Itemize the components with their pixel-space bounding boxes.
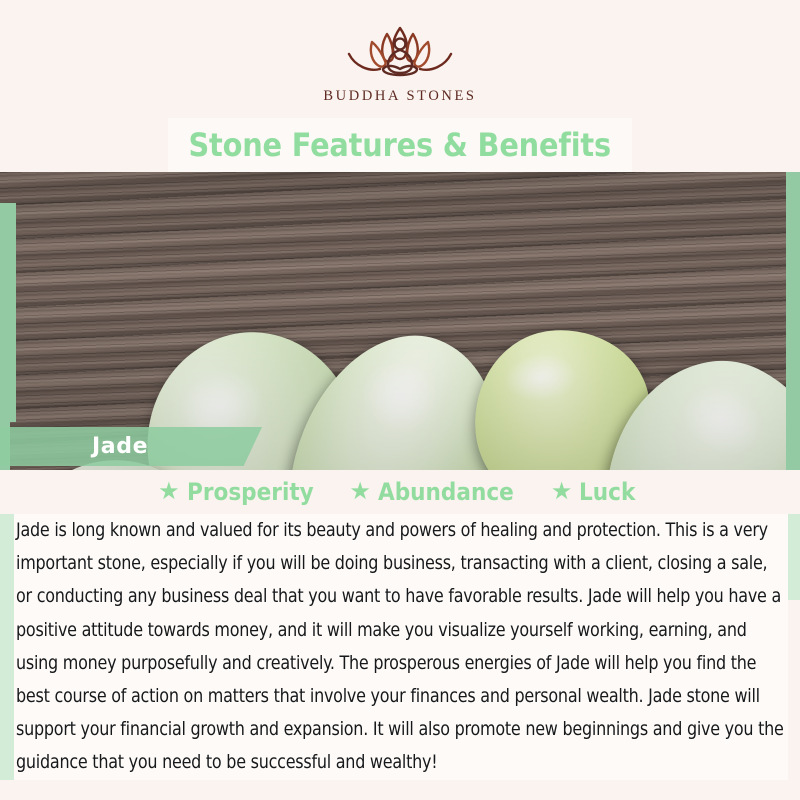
description-block: Jade is long known and valued for its be… [14, 514, 788, 780]
brand-name: BUDDHA STONES [323, 88, 476, 105]
jade-stones-photo [0, 172, 800, 470]
infographic-page: BUDDHA STONES Stone Features & Benefits … [0, 0, 800, 800]
keyword-row: ★ Prosperity ★ Abundance ★ Luck [0, 470, 800, 514]
star-icon: ★ [349, 480, 371, 504]
stone-name-label: Jade [92, 436, 148, 458]
keyword-item-prosperity: ★ Prosperity [158, 480, 327, 504]
keyword-label: Prosperity [187, 480, 314, 504]
bottom-spacer [0, 780, 800, 800]
lotus-meditation-icon [325, 22, 475, 84]
keyword-item-luck: ★ Luck [551, 480, 642, 504]
keyword-label: Luck [579, 480, 635, 504]
page-title: Stone Features & Benefits [189, 129, 611, 161]
star-icon: ★ [551, 480, 573, 504]
decorative-bar-left [0, 203, 16, 422]
keyword-label: Abundance [378, 480, 514, 504]
section-title-band: Stone Features & Benefits [0, 118, 800, 172]
stone-name-badge: Jade [0, 427, 262, 466]
section-title-inner: Stone Features & Benefits [168, 118, 632, 172]
brand-header: BUDDHA STONES [0, 0, 800, 118]
keyword-item-abundance: ★ Abundance [349, 480, 528, 504]
decorative-strip-left [0, 470, 14, 780]
description-text: Jade is long known and valued for its be… [16, 514, 784, 780]
star-icon: ★ [158, 480, 180, 504]
